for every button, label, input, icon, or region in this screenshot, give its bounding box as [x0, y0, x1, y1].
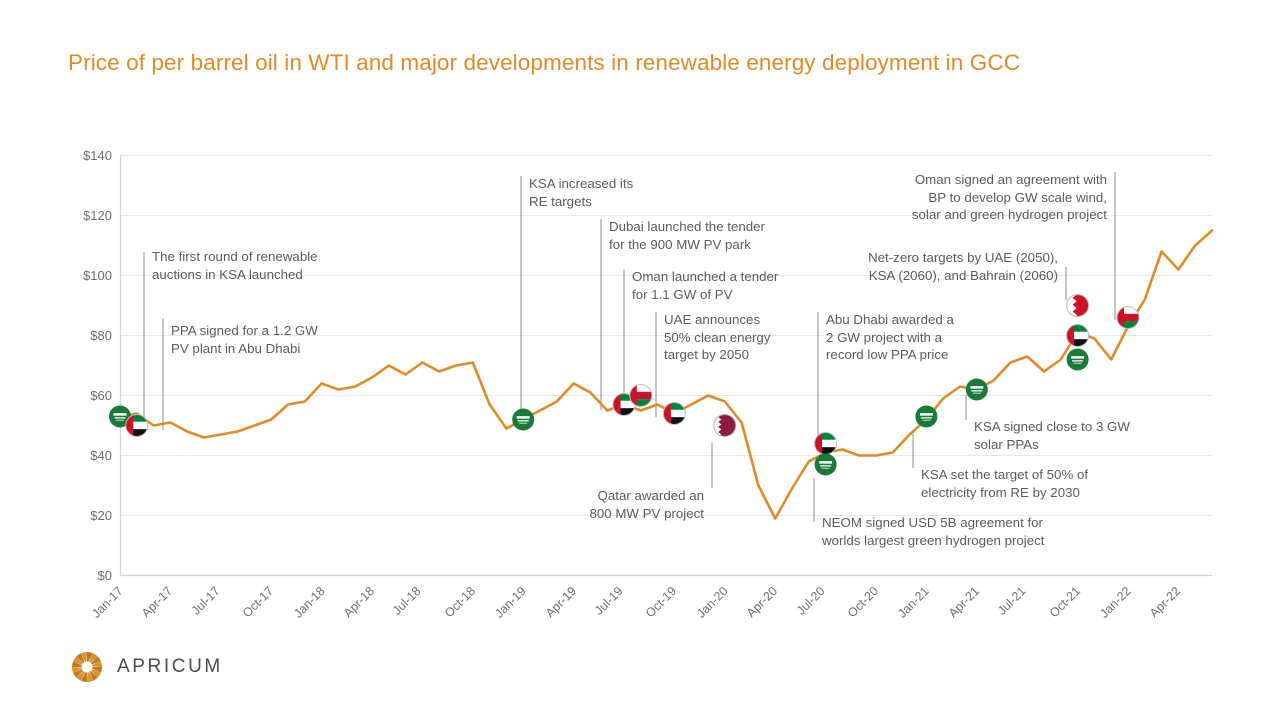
- annotation-net-zero-targets: Net-zero targets by UAE (2050), KSA (206…: [790, 249, 1058, 284]
- annotation-oman-bp: Oman signed an agreement with BP to deve…: [828, 171, 1107, 224]
- annotation-qatar-800mw: Qatar awarded an 800 MW PV project: [457, 487, 704, 522]
- apricum-sun-logo-icon: [70, 650, 104, 684]
- marker-qatar-flag[interactable]: [714, 415, 736, 437]
- y-tick-140: $140: [56, 148, 112, 163]
- annotation-uae-clean-energy: UAE announces 50% clean energy target by…: [664, 311, 770, 364]
- marker-saudi-arabia-flag[interactable]: [512, 409, 534, 431]
- annotation-oman-tender: Oman launched a tender for 1.1 GW of PV: [632, 268, 778, 303]
- y-tick-20: $20: [56, 508, 112, 523]
- annotation-abudhabi-2gw: Abu Dhabi awarded a 2 GW project with a …: [826, 311, 954, 364]
- annotation-ksa-3gw-ppa: KSA signed close to 3 GW solar PPAs: [974, 418, 1130, 453]
- marker-saudi-arabia-flag[interactable]: [915, 406, 937, 428]
- apricum-logo: APRICUM: [70, 650, 223, 684]
- marker-uae-flag[interactable]: [1067, 325, 1089, 347]
- annotation-dubai-900mw: Dubai launched the tender for the 900 MW…: [609, 218, 765, 253]
- y-tick-40: $40: [56, 448, 112, 463]
- marker-oman-flag[interactable]: [1117, 307, 1139, 329]
- y-tick-80: $80: [56, 328, 112, 343]
- marker-uae-flag[interactable]: [126, 415, 148, 437]
- y-tick-0: $0: [56, 568, 112, 583]
- marker-saudi-arabia-flag[interactable]: [815, 454, 837, 476]
- marker-uae-flag[interactable]: [815, 433, 837, 455]
- marker-oman-flag[interactable]: [630, 385, 652, 407]
- annotation-ksa-50pct-2030: KSA set the target of 50% of electricity…: [921, 466, 1088, 501]
- annotation-ksa-re-targets: KSA increased its RE targets: [529, 175, 633, 210]
- marker-uae-flag[interactable]: [663, 403, 685, 425]
- apricum-logo-text: APRICUM: [117, 656, 223, 678]
- annotation-ksa-first-auction: The first round of renewable auctions in…: [152, 248, 318, 283]
- y-tick-100: $100: [56, 268, 112, 283]
- marker-saudi-arabia-flag[interactable]: [966, 379, 988, 401]
- y-tick-120: $120: [56, 208, 112, 223]
- annotation-neom-hydrogen: NEOM signed USD 5B agreement for worlds …: [822, 514, 1044, 549]
- marker-bahrain-flag[interactable]: [1067, 295, 1089, 317]
- annotation-abudhabi-ppa: PPA signed for a 1.2 GW PV plant in Abu …: [171, 322, 318, 357]
- y-tick-60: $60: [56, 388, 112, 403]
- marker-saudi-arabia-flag[interactable]: [1067, 349, 1089, 371]
